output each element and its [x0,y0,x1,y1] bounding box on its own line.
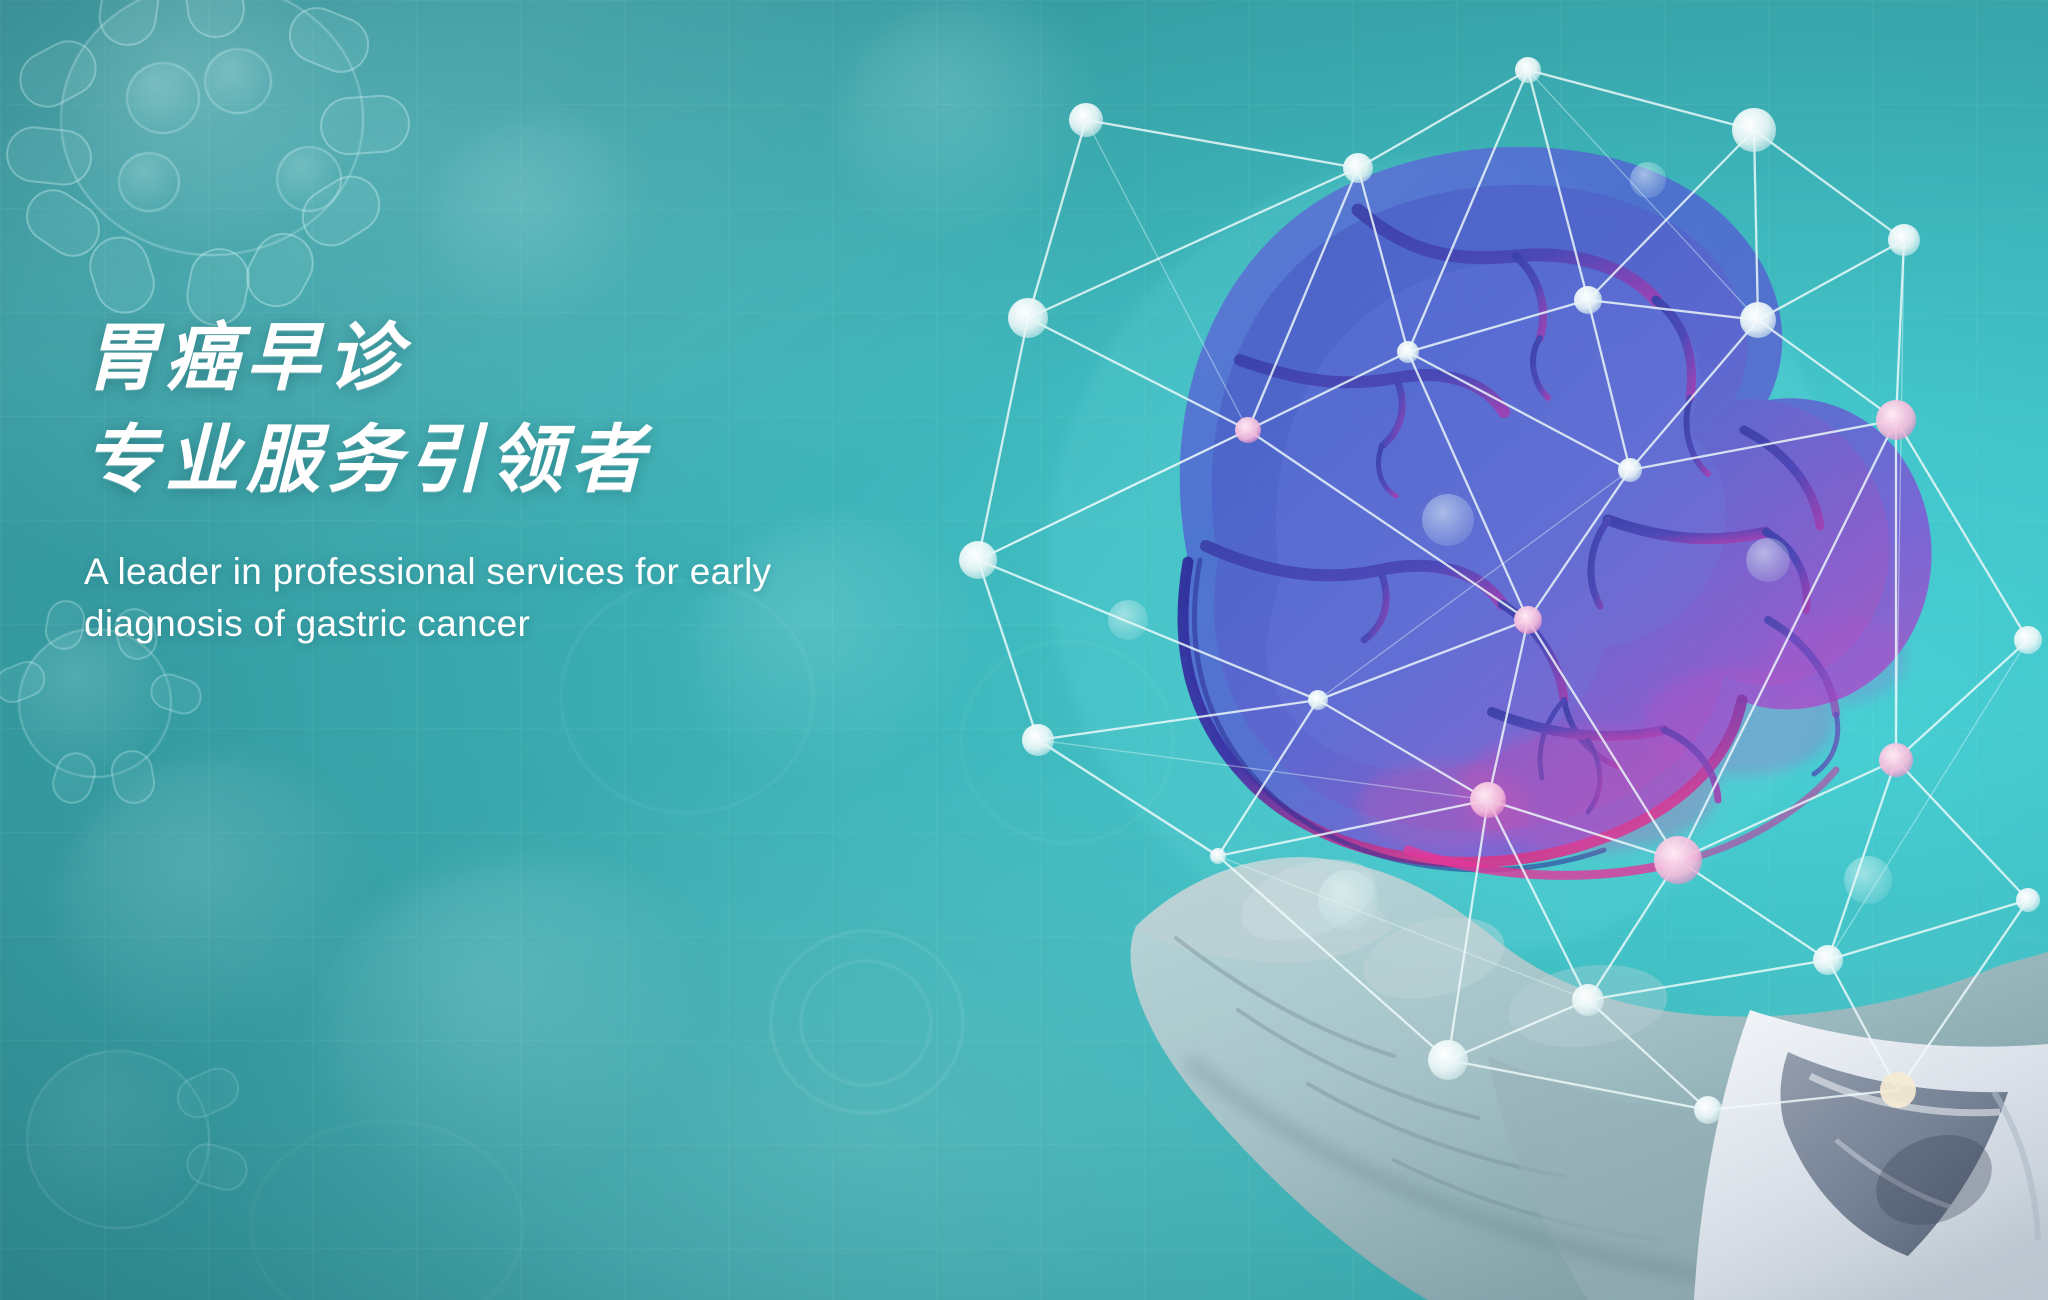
subtitle-english-line-2: diagnosis of gastric cancer [84,598,894,651]
subtitle-english-line-1: A leader in professional services for ea… [84,546,894,599]
subtitle-english: A leader in professional services for ea… [84,546,894,651]
banner-copy-block: 胃癌早诊 专业服务引领者 A leader in professional se… [84,318,984,651]
headline-chinese-line-2: 专业服务引领者 [84,420,984,500]
headline-chinese-line-1: 胃癌早诊 [84,318,984,398]
banner-root: 胃癌早诊 专业服务引领者 A leader in professional se… [0,0,2048,1300]
